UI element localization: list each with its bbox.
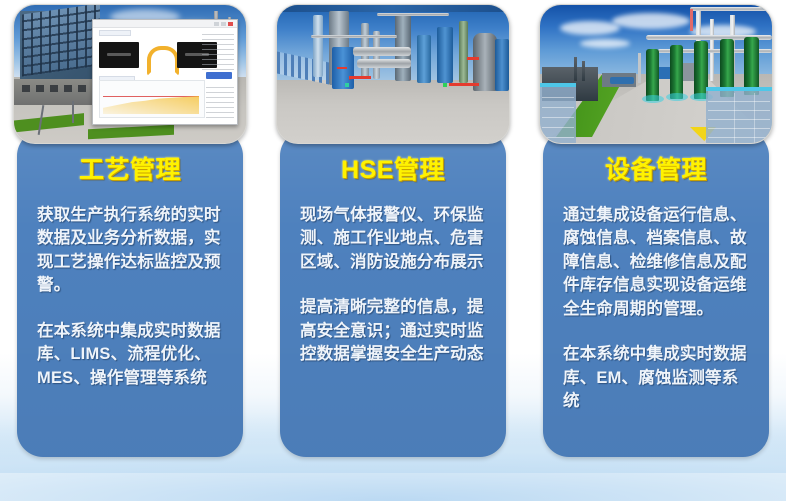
card-paragraph: 提高清晰完整的信息，提高安全意识；通过实时监控数据掌握安全生产动态: [300, 296, 486, 366]
scene-header-strip: [277, 5, 509, 12]
card-title-equipment-management: 设备管理: [543, 150, 769, 186]
cloud-shape: [612, 13, 690, 29]
chimney-stack: [582, 61, 585, 81]
support-pole: [72, 101, 74, 123]
card-title-hse-management: HSE管理: [280, 150, 506, 186]
overhead-pipe: [377, 13, 449, 16]
primary-action-button[interactable]: [206, 72, 232, 79]
alarm-tag: [449, 83, 479, 86]
card-text-equipment-management: 通过集成设备运行信息、腐蚀信息、档案信息、故障信息、检维修信息及配件库存信息实现…: [543, 204, 769, 413]
dashboard-window: [92, 19, 238, 125]
overhead-pipe: [311, 35, 397, 38]
marker-dot: [345, 83, 349, 87]
pump-unit: [646, 49, 659, 101]
window-slot: [50, 85, 58, 92]
cloud-shape: [580, 39, 630, 48]
card-row: 工艺管理 获取生产执行系统的实时数据及业务分析数据，实现工艺操作达标监控及预警。…: [0, 0, 786, 473]
card-image-equipment-management: [539, 4, 773, 144]
scene-refinery-tanks: ●: [277, 5, 509, 143]
pump-highlight-ring: [642, 95, 664, 103]
plant-vehicle: [610, 77, 634, 84]
chimney-stack: [574, 57, 577, 81]
threshold-line: [103, 96, 199, 97]
card-title-process-management: 工艺管理: [17, 150, 243, 186]
data-panel-left: [540, 83, 576, 143]
side-legend-list: [202, 30, 234, 70]
chart-legend: [206, 84, 234, 118]
kpi-panel-row: [99, 38, 199, 72]
maximize-icon: [221, 22, 226, 26]
scene-plant-pumps-dashboard: [540, 5, 772, 143]
alarm-tag: [349, 76, 371, 79]
card-image-hse-management: ●: [276, 4, 510, 144]
alarm-tag: [467, 57, 479, 60]
cloud-shape: [560, 21, 620, 35]
close-icon: [228, 22, 233, 26]
window-slot: [78, 85, 86, 92]
storage-tank: [417, 35, 431, 83]
trend-chart: [99, 80, 205, 118]
card-equipment-management[interactable]: 设备管理 通过集成设备运行信息、腐蚀信息、档案信息、故障信息、检维修信息及配件库…: [539, 0, 773, 473]
window-slot: [64, 85, 72, 92]
alarm-tag: [337, 67, 347, 69]
pump-unit: [670, 45, 683, 99]
card-paragraph: 在本系统中集成实时数据库、LIMS、流程优化、MES、操作管理等系统: [37, 320, 223, 390]
card-paragraph: 通过集成设备运行信息、腐蚀信息、档案信息、故障信息、检维修信息及配件库存信息实现…: [563, 204, 749, 321]
storage-tank: [437, 27, 453, 83]
card-paragraph: 现场气体报警仪、环保监测、施工作业地点、危害区域、消防设施分布展示: [300, 204, 486, 274]
distillation-column: [313, 15, 323, 77]
red-marker-pipe: [690, 9, 693, 31]
card-hse-management[interactable]: ● HSE管理 现场气体报警仪、环保监测、施工作业地点、危害区域、消防设施分布展…: [276, 0, 510, 473]
card-panel-hse-management: HSE管理 现场气体报警仪、环保监测、施工作业地点、危害区域、消防设施分布展示 …: [280, 130, 506, 457]
minimize-icon: [214, 22, 219, 26]
card-text-hse-management: 现场气体报警仪、环保监测、施工作业地点、危害区域、消防设施分布展示 提高清晰完整…: [280, 204, 506, 367]
card-text-process-management: 获取生产执行系统的实时数据及业务分析数据，实现工艺操作达标监控及预警。 在本系统…: [17, 204, 243, 390]
scene-process-plant-dashboard: [14, 5, 246, 143]
section-label-bar: [99, 30, 131, 36]
card-paragraph: 在本系统中集成实时数据库、EM、腐蚀监测等系统: [563, 343, 749, 413]
column-pipe: [459, 21, 468, 83]
storage-tank: [495, 39, 509, 91]
chimney-stack: [638, 53, 641, 83]
card-process-management[interactable]: 工艺管理 获取生产执行系统的实时数据及业务分析数据，实现工艺操作达标监控及预警。…: [13, 0, 247, 473]
window-slot: [22, 85, 30, 92]
pump-highlight-ring: [666, 93, 688, 101]
kpi-tile: [99, 42, 139, 68]
marker-dot: [443, 83, 447, 87]
data-panel-right: [706, 87, 772, 143]
overhead-pipe: [690, 7, 772, 11]
heat-exchanger: [357, 59, 411, 68]
steel-lattice-structure: [22, 5, 100, 76]
card-panel-equipment-management: 设备管理 通过集成设备运行信息、腐蚀信息、档案信息、故障信息、检维修信息及配件库…: [543, 130, 769, 457]
card-image-process-management: [13, 4, 247, 144]
card-panel-process-management: 工艺管理 获取生产执行系统的实时数据及业务分析数据，实现工艺操作达标监控及预警。…: [17, 130, 243, 457]
window-slot: [36, 85, 44, 92]
heat-exchanger: [353, 47, 411, 56]
gauge-icon: [147, 46, 179, 76]
card-paragraph: 获取生产执行系统的实时数据及业务分析数据，实现工艺操作达标监控及预警。: [37, 204, 223, 298]
